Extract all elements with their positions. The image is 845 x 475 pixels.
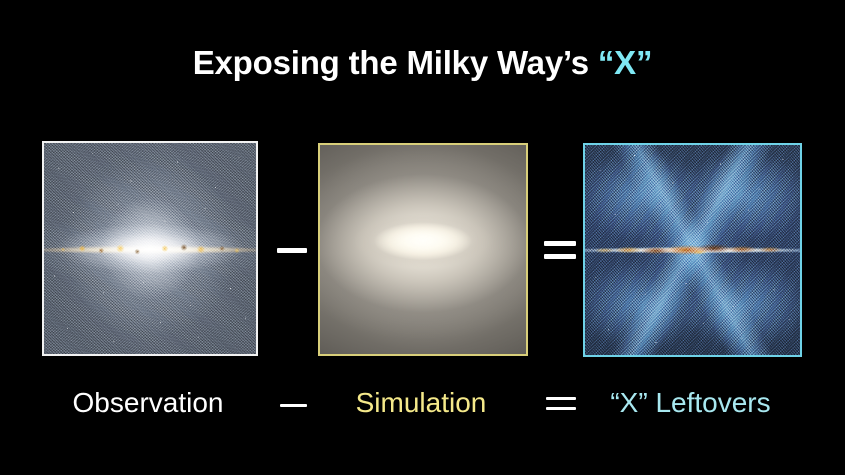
equals-bar-bottom (544, 254, 576, 259)
observation-image (44, 143, 256, 354)
caption-minus-bar (280, 404, 307, 407)
caption-equals-bar-top (546, 397, 576, 400)
simulation-core-glow (320, 145, 526, 354)
caption-simulation: Simulation (318, 387, 524, 419)
caption-observation: Observation (42, 387, 254, 419)
infographic-canvas: Exposing the Milky Way’s “X” (0, 0, 845, 475)
panel-leftovers[interactable] (583, 143, 802, 357)
panel-observation[interactable] (42, 141, 258, 356)
observation-stars (44, 143, 256, 354)
caption-leftovers: “X” Leftovers (583, 387, 798, 419)
leftovers-image (585, 145, 800, 355)
caption-equals-operator-icon (545, 392, 577, 414)
caption-equals-bar-bottom (546, 407, 576, 410)
leftovers-stars (585, 145, 800, 355)
minus-bar (277, 248, 307, 253)
title-main-text: Exposing the Milky Way’s (193, 44, 598, 81)
equals-operator-icon (543, 235, 577, 265)
equals-bar-top (544, 241, 576, 246)
panel-simulation[interactable] (318, 143, 528, 356)
caption-minus-operator-icon (278, 396, 308, 414)
simulation-image (320, 145, 526, 354)
title-accent-x: “X” (598, 44, 652, 81)
minus-operator-icon (276, 238, 308, 262)
page-title: Exposing the Milky Way’s “X” (0, 44, 845, 82)
